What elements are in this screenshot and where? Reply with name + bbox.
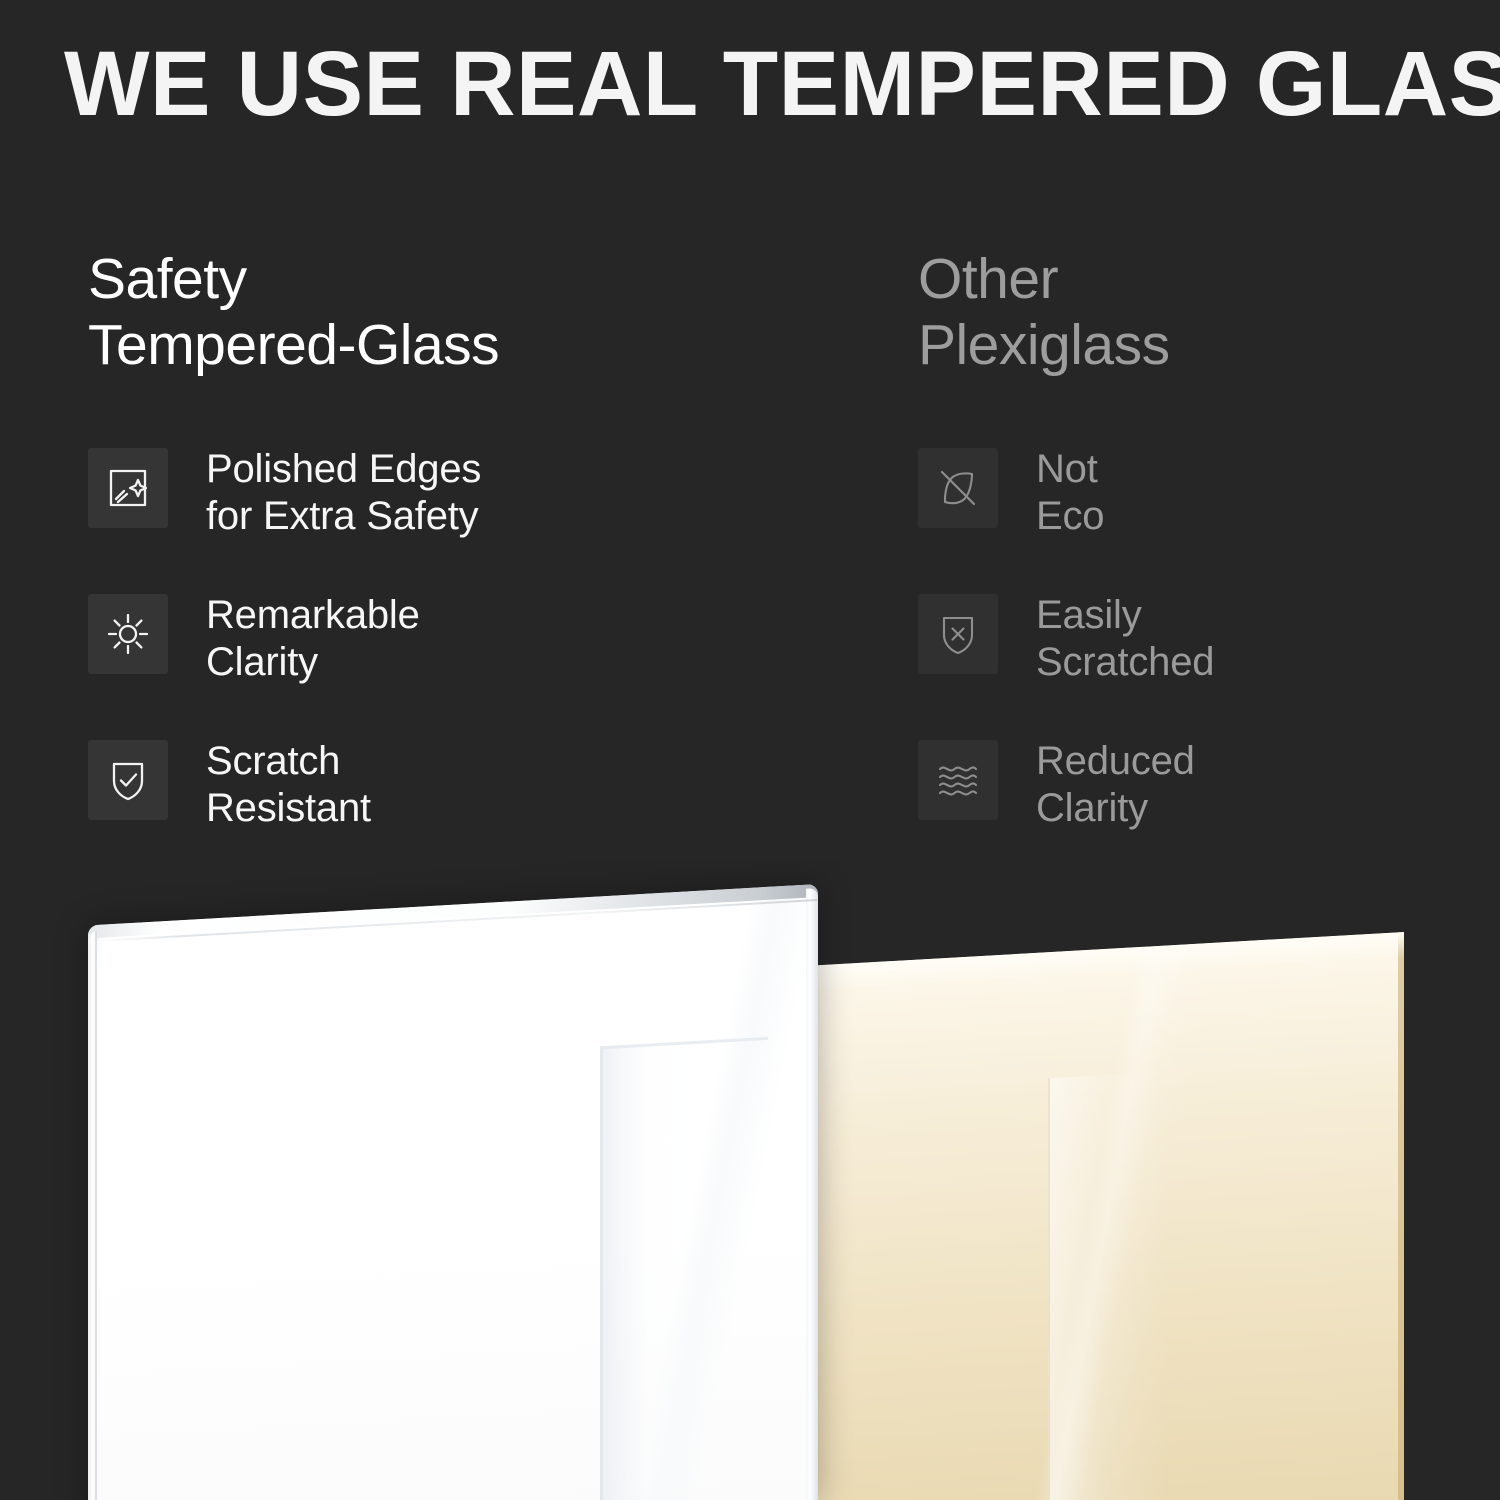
glass-polished-right-edge xyxy=(806,888,818,1500)
feature-row: Remarkable Clarity xyxy=(88,590,848,682)
leaf-crossed-out-icon xyxy=(918,448,998,528)
clear-tempered-glass-panel xyxy=(88,884,818,1500)
yellowed-plexiglass-panel xyxy=(818,932,1404,1500)
glass-reflection-highlight xyxy=(600,1037,768,1500)
feature-row: Scratch Resistant xyxy=(88,736,848,828)
shield-check-icon xyxy=(88,740,168,820)
feature-label: Easily Scratched xyxy=(1036,590,1214,686)
feature-label: Reduced Clarity xyxy=(1036,736,1195,832)
page-title: WE USE REAL TEMPERED GLASS xyxy=(64,38,1433,130)
plexi-reflection-highlight xyxy=(1048,1071,1168,1500)
column-title: Safety Tempered-Glass xyxy=(88,246,848,378)
shield-x-icon xyxy=(918,594,998,674)
feature-row: Polished Edges for Extra Safety xyxy=(88,444,848,536)
feature-label: Not Eco xyxy=(1036,444,1104,540)
comparison-column-tempered-glass: Safety Tempered-Glass Polished Edges for… xyxy=(88,246,848,828)
feature-label: Polished Edges for Extra Safety xyxy=(206,444,481,540)
sun-clarity-icon xyxy=(88,594,168,674)
wavy-lines-distortion-icon xyxy=(918,740,998,820)
feature-label: Scratch Resistant xyxy=(206,736,371,832)
feature-row: Easily Scratched xyxy=(918,590,1478,682)
feature-label: Remarkable Clarity xyxy=(206,590,420,686)
infographic-canvas: WE USE REAL TEMPERED GLASS Safety Temper… xyxy=(0,0,1500,1500)
glass-polished-left-edge xyxy=(88,931,97,1500)
comparison-column-plexiglass: Other Plexiglass Not Eco Easily Scratche… xyxy=(918,246,1478,828)
polished-glass-sparkle-icon xyxy=(88,448,168,528)
feature-row: Not Eco xyxy=(918,444,1478,536)
product-comparison-image xyxy=(0,860,1500,1500)
column-title: Other Plexiglass xyxy=(918,246,1478,378)
feature-row: Reduced Clarity xyxy=(918,736,1478,828)
